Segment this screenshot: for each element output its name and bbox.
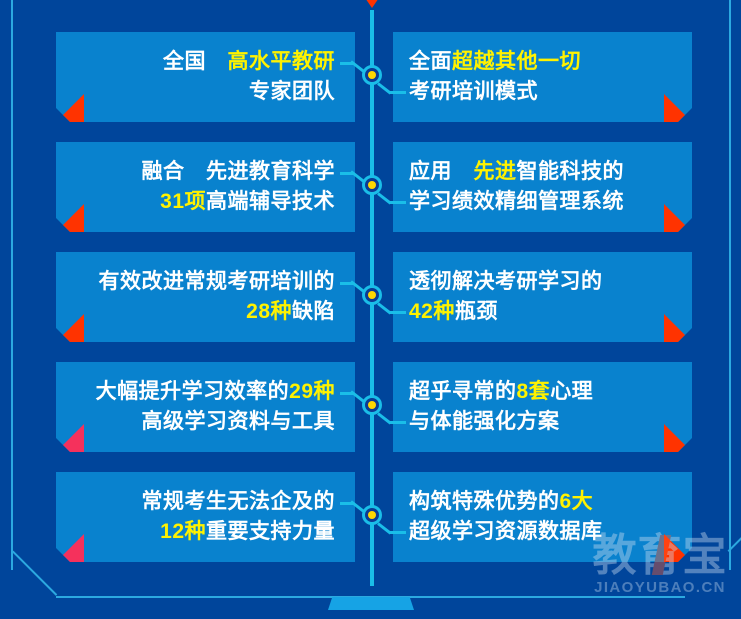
feature-line: 全面超越其他一切 xyxy=(409,47,581,77)
feature-line: 超乎寻常的8套心理 xyxy=(409,377,593,407)
bottom-tab-decoration xyxy=(328,597,414,610)
feature-card-right[interactable]: 超乎寻常的8套心理与体能强化方案 xyxy=(393,362,692,452)
body-text: 考研培训模式 xyxy=(409,80,538,103)
corner-triangle-icon xyxy=(56,424,84,452)
down-arrow-icon xyxy=(361,0,383,8)
feature-line: 常规考生无法企及的 xyxy=(142,487,336,517)
feature-line: 融合 先进教育科学 xyxy=(142,157,336,187)
frame-left-line xyxy=(11,0,13,570)
connector-elbow-right xyxy=(378,302,404,320)
feature-card-right[interactable]: 应用 先进智能科技的学习绩效精细管理系统 xyxy=(393,142,692,232)
feature-line: 高级学习资料与工具 xyxy=(142,407,336,437)
highlight-text: 31项 xyxy=(160,190,206,213)
corner-triangle-icon xyxy=(56,534,84,562)
corner-triangle-icon xyxy=(664,94,692,122)
body-text: 构筑特殊优势的 xyxy=(409,490,560,513)
connector-elbow-right xyxy=(378,82,404,100)
corner-triangle-icon xyxy=(56,204,84,232)
corner-triangle-icon xyxy=(664,204,692,232)
feature-line: 专家团队 xyxy=(249,77,335,107)
body-text: 学习绩效精细管理系统 xyxy=(409,190,624,213)
body-text: 瓶颈 xyxy=(455,300,498,323)
body-text: 融合 xyxy=(142,160,207,183)
feature-line: 12种重要支持力量 xyxy=(160,517,335,547)
corner-triangle-icon xyxy=(56,94,84,122)
feature-line: 学习绩效精细管理系统 xyxy=(409,187,624,217)
body-text: 缺陷 xyxy=(292,300,335,323)
body-text: 大幅提升学习效率的 xyxy=(96,380,290,403)
frame-corner-bottom-right xyxy=(728,507,741,552)
corner-triangle-icon xyxy=(664,314,692,342)
body-text: 超乎寻常的 xyxy=(409,380,517,403)
body-text: 重要支持力量 xyxy=(206,520,335,543)
feature-line: 有效改进常规考研培训的 xyxy=(99,267,336,297)
feature-line: 构筑特殊优势的6大 xyxy=(409,487,593,517)
connector-node xyxy=(362,175,382,195)
feature-line: 与体能强化方案 xyxy=(409,407,560,437)
feature-card-left[interactable]: 常规考生无法企及的12种重要支持力量 xyxy=(56,472,355,562)
highlight-text: 6大 xyxy=(560,490,594,513)
body-text: 应用 xyxy=(409,160,474,183)
frame-right-line xyxy=(729,0,731,570)
connector-elbow-right xyxy=(378,412,404,430)
body-text: 全国 xyxy=(163,50,228,73)
body-text: 心理 xyxy=(550,380,593,403)
feature-card-left[interactable]: 大幅提升学习效率的29种高级学习资料与工具 xyxy=(56,362,355,452)
highlight-text: 28种 xyxy=(246,300,292,323)
connector-node xyxy=(362,65,382,85)
body-text: 先进教育科学 xyxy=(206,160,335,183)
feature-line: 28种缺陷 xyxy=(246,297,335,327)
watermark-en-label: JIAOYUBAO.CN xyxy=(586,579,734,597)
connector-elbow-right xyxy=(378,192,404,210)
feature-line: 考研培训模式 xyxy=(409,77,538,107)
feature-line: 应用 先进智能科技的 xyxy=(409,157,624,187)
body-text: 常规考生无法企及的 xyxy=(142,490,336,513)
highlight-text: 超越其他一切 xyxy=(452,50,581,73)
highlight-text: 42种 xyxy=(409,300,455,323)
infographic-canvas: 全国 高水平教研专家团队全面超越其他一切考研培训模式融合 先进教育科学31项高端… xyxy=(0,0,741,619)
connector-node xyxy=(362,395,382,415)
connector-node xyxy=(362,505,382,525)
corner-triangle-icon xyxy=(664,534,692,562)
body-text: 有效改进常规考研培训的 xyxy=(99,270,336,293)
feature-line: 大幅提升学习效率的29种 xyxy=(96,377,335,407)
frame-corner-bottom-left xyxy=(12,551,57,596)
feature-line: 超级学习资源数据库 xyxy=(409,517,603,547)
connector-elbow-right xyxy=(378,522,404,540)
body-text: 高级学习资料与工具 xyxy=(142,410,336,433)
feature-card-right[interactable]: 构筑特殊优势的6大超级学习资源数据库 xyxy=(393,472,692,562)
feature-line: 42种瓶颈 xyxy=(409,297,498,327)
highlight-text: 先进 xyxy=(474,160,517,183)
feature-card-right[interactable]: 透彻解决考研学习的42种瓶颈 xyxy=(393,252,692,342)
body-text: 透彻解决考研学习的 xyxy=(409,270,603,293)
body-text: 与体能强化方案 xyxy=(409,410,560,433)
body-text: 全面 xyxy=(409,50,452,73)
highlight-text: 29种 xyxy=(289,380,335,403)
feature-card-right[interactable]: 全面超越其他一切考研培训模式 xyxy=(393,32,692,122)
feature-card-left[interactable]: 融合 先进教育科学31项高端辅导技术 xyxy=(56,142,355,232)
feature-line: 31项高端辅导技术 xyxy=(160,187,335,217)
corner-triangle-icon xyxy=(664,424,692,452)
highlight-text: 高水平教研 xyxy=(228,50,336,73)
body-text: 智能科技的 xyxy=(517,160,625,183)
highlight-text: 12种 xyxy=(160,520,206,543)
feature-card-left[interactable]: 全国 高水平教研专家团队 xyxy=(56,32,355,122)
highlight-text: 8套 xyxy=(517,380,551,403)
body-text: 专家团队 xyxy=(249,80,335,103)
feature-line: 全国 高水平教研 xyxy=(163,47,335,77)
corner-triangle-icon xyxy=(56,314,84,342)
feature-line: 透彻解决考研学习的 xyxy=(409,267,603,297)
body-text: 高端辅导技术 xyxy=(206,190,335,213)
body-text: 超级学习资源数据库 xyxy=(409,520,603,543)
feature-card-left[interactable]: 有效改进常规考研培训的28种缺陷 xyxy=(56,252,355,342)
connector-node xyxy=(362,285,382,305)
